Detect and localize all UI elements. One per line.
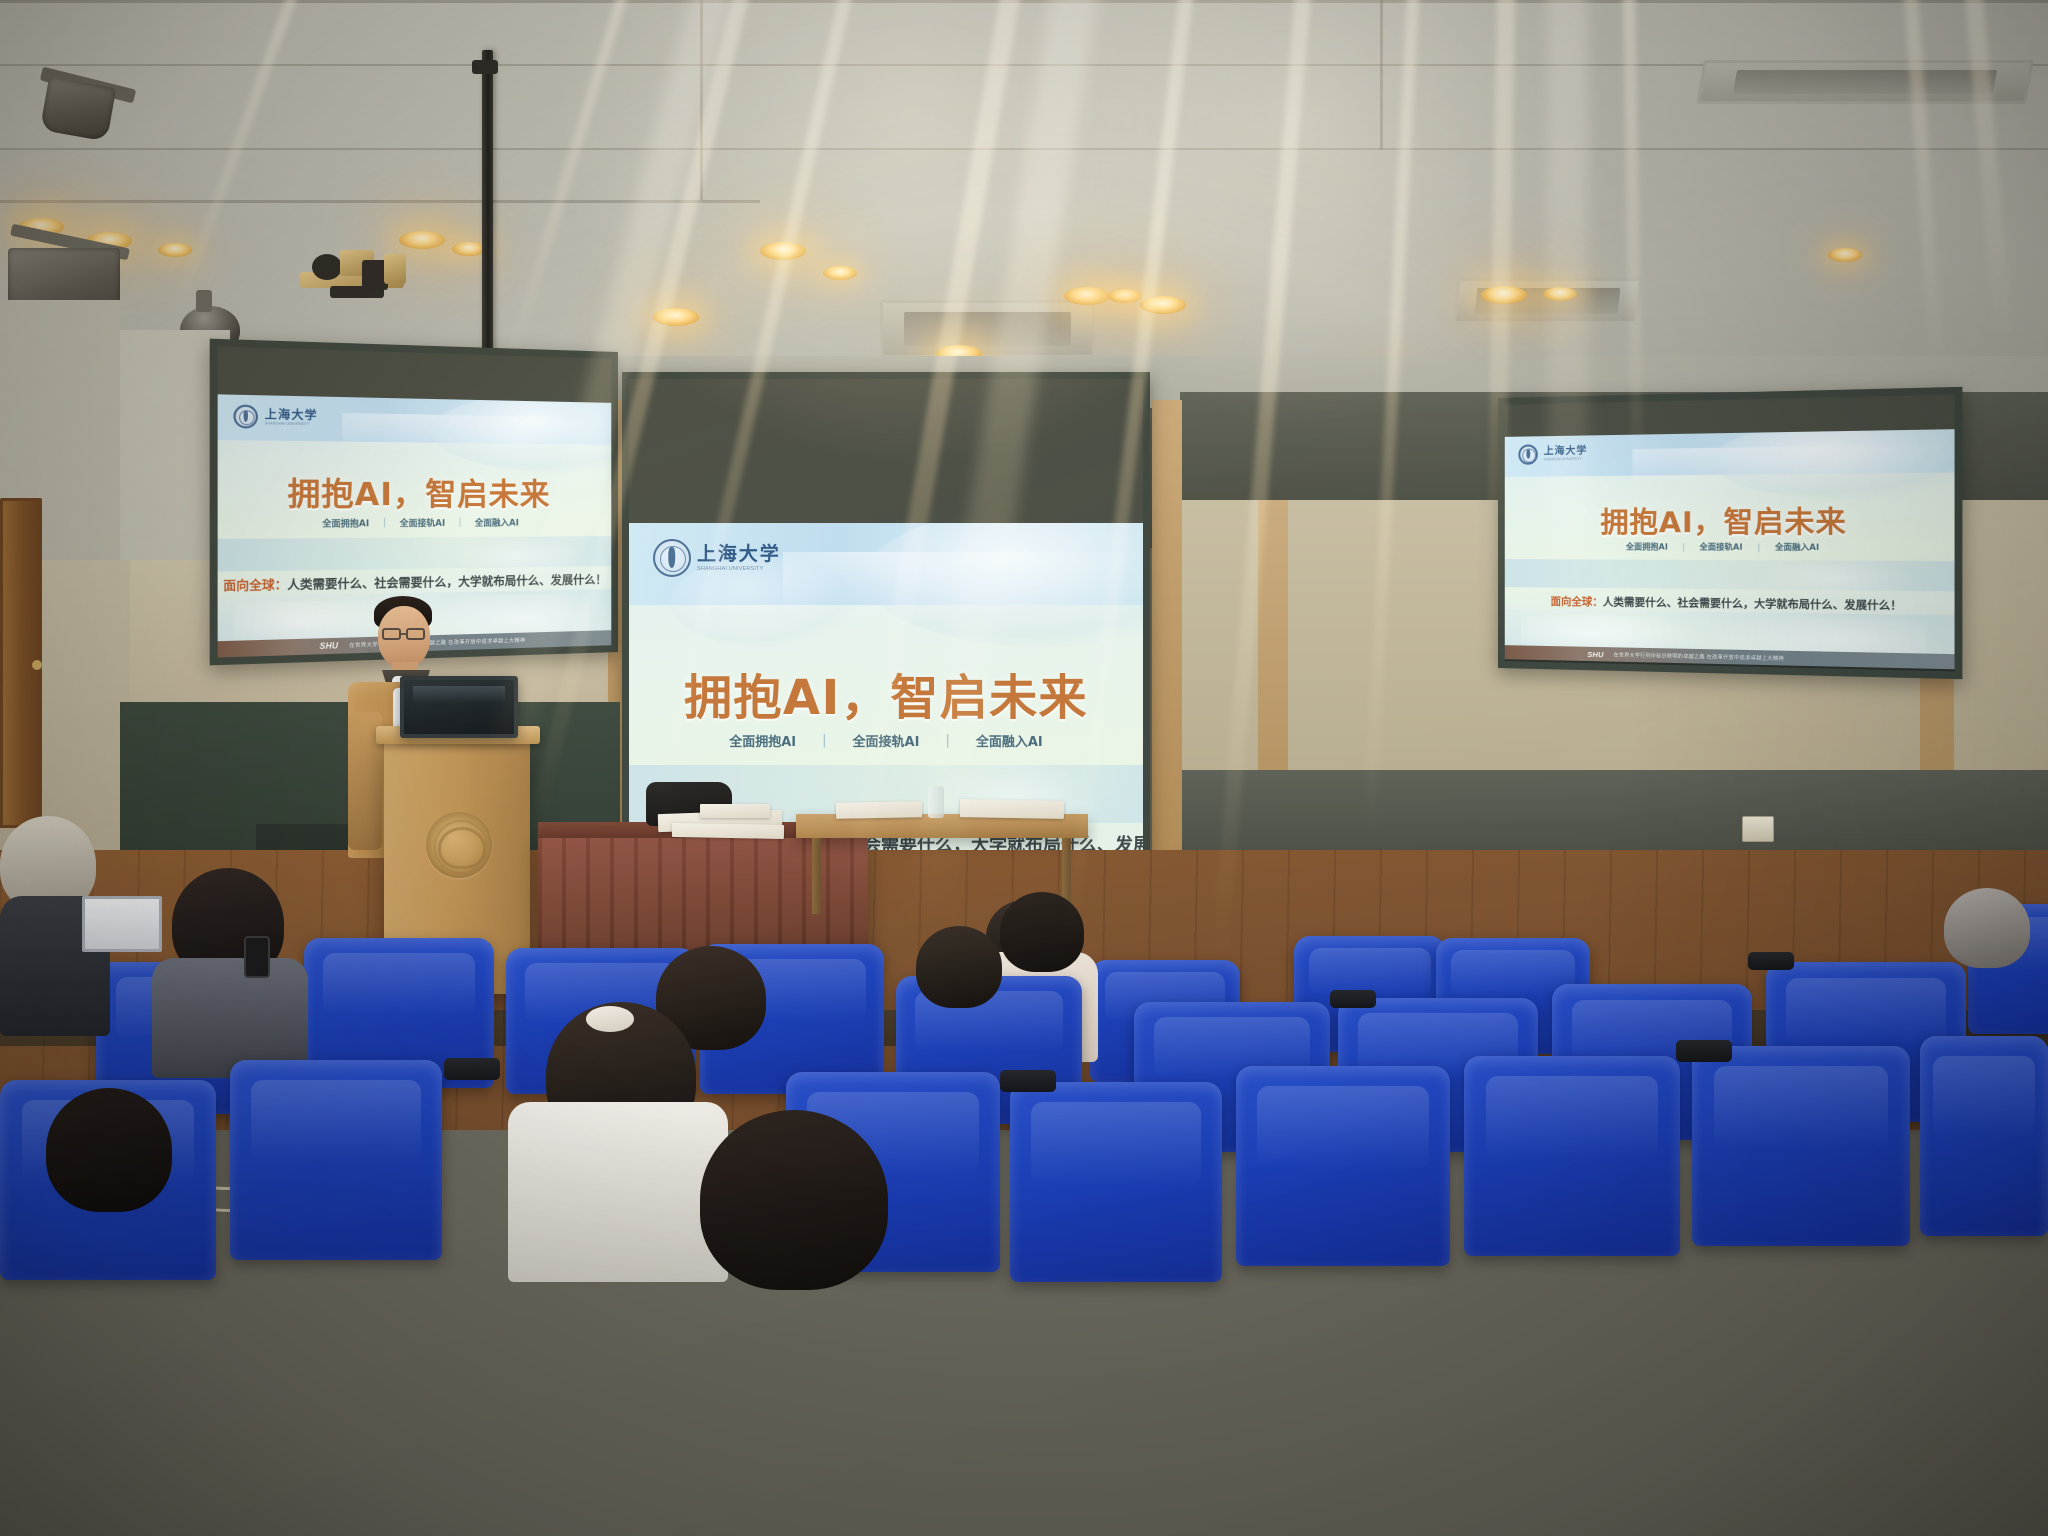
ac-vent-icon [1696,60,2034,104]
audience-head [1000,892,1084,972]
downlight-icon [823,266,857,280]
podium-laptop[interactable] [400,676,518,738]
downlight-icon [399,231,445,249]
seat[interactable] [1692,1046,1910,1246]
downlight-icon [1064,287,1110,305]
slide-highlight-label: 面向全球： [1551,596,1603,609]
ac-vent-icon [880,300,1095,358]
downlight-icon [158,243,192,257]
subtitle-item: 全面拥抱AI [729,731,796,750]
slide-body-text: 人类需要什么、社会需要什么，大学就布局什么、发展什么！ [1603,596,1902,612]
audience-head [46,1088,172,1212]
audience-head [916,926,1002,1008]
seat[interactable] [230,1060,442,1260]
subtitle-separator: | [459,518,462,528]
seat[interactable] [1920,1036,2048,1236]
slide-title: 拥抱AI，智启未来 [1505,505,1955,540]
downlight-icon [1108,289,1142,303]
slide-subtitle: 全面拥抱AI | 全面接轨AI | 全面融入AI [1505,541,1955,554]
seat[interactable] [1236,1066,1450,1266]
glasses-icon [382,628,401,640]
slide-content: 上海大学 SHANGHAI UNIVERSITY 拥抱AI，智启未来 全面拥抱A… [1505,429,1955,669]
ac-vent-icon [1453,278,1643,324]
subtitle-separator: | [383,518,386,529]
logo-text-cn: 上海大学 [1544,446,1588,458]
raised-phone-icon[interactable] [244,936,270,978]
downlight-icon [1481,286,1527,304]
hair-tie-icon [586,1006,634,1032]
subtitle-separator: | [1757,542,1760,551]
subtitle-item: 全面融入AI [976,731,1043,750]
door-knob-icon[interactable] [32,660,42,670]
subtitle-separator: | [1682,542,1685,551]
audience-head [1944,888,2030,968]
wall-column-right [1152,400,1182,870]
seat[interactable] [1464,1056,1680,1256]
footer-text: 在世界大学行列中标识鲜明的卓越之路 在改革开放中追求卓越上大精神 [1614,651,1784,662]
shu-logo: 上海大学 SHANGHAI UNIVERSITY [653,539,781,577]
shu-logo: 上海大学 SHANGHAI UNIVERSITY [1518,444,1587,465]
seat-armrest [444,1058,500,1080]
logo-text-en: SHANGHAI UNIVERSITY [1544,457,1588,463]
slide-title: 拥抱AI，智启未来 [218,477,612,514]
audience-head [700,1110,888,1290]
logo-text-cn: 上海大学 [697,544,781,565]
subtitle-item: 全面融入AI [475,516,519,529]
shu-logo: 上海大学 SHANGHAI UNIVERSITY [233,404,317,429]
logo-text-en: SHANGHAI UNIVERSITY [265,421,318,427]
mic-boom-clamp [472,60,498,74]
downlight-icon [1828,248,1862,262]
logo-text-cn: 上海大学 [265,408,318,422]
papers-on-table [672,823,784,839]
slide-highlight-label: 面向全球： [223,577,287,593]
seat[interactable] [1010,1082,1222,1282]
podium-seal-icon [426,812,492,878]
documents-on-side-table [700,804,770,818]
subtitle-separator: | [945,733,949,748]
camera-rig [300,250,412,308]
subtitle-item: 全面拥抱AI [322,517,369,530]
glasses-icon [406,628,425,640]
downlight-icon [1140,296,1186,314]
footer-shu-mark: SHU [1587,649,1603,659]
logo-text-en: SHANGHAI UNIVERSITY [697,565,781,573]
subtitle-item: 全面接轨AI [400,517,445,530]
shanghai-university-seal-icon [233,404,258,428]
right-projection-screen: 上海大学 SHANGHAI UNIVERSITY 拥抱AI，智启未来 全面拥抱A… [1498,387,1962,679]
downlight-icon [1543,287,1577,301]
water-bottle [928,786,944,818]
shanghai-university-seal-icon [1518,444,1538,464]
shanghai-university-seal-icon [653,539,691,577]
slide-subtitle: 全面拥抱AI | 全面接轨AI | 全面融入AI [218,516,612,530]
subtitle-item: 全面拥抱AI [1626,541,1668,552]
seat-armrest [1330,990,1376,1008]
side-table-leg [812,838,821,914]
downlight-icon [452,242,486,256]
audience-body [508,1102,728,1282]
subtitle-item: 全面接轨AI [853,731,920,750]
slide-subtitle: 全面拥抱AI | 全面接轨AI | 全面融入AI [629,731,1143,750]
subtitle-item: 全面融入AI [1775,541,1819,553]
glasses-bridge [401,633,406,635]
dome-camera-mount [196,290,212,312]
slide-title: 拥抱AI，智启未来 [629,671,1143,725]
documents-on-side-table [836,801,922,818]
seat-armrest [1000,1070,1056,1092]
wall-outlet-plate [1742,816,1774,842]
seat-armrest [1748,952,1794,970]
lecture-hall-photo: 上海大学 SHANGHAI UNIVERSITY 拥抱AI，智启未来 全面拥抱A… [0,0,2048,1536]
wall-lower-dark [1182,770,2048,860]
documents-on-side-table [960,799,1064,819]
subtitle-item: 全面接轨AI [1700,541,1743,553]
subtitle-separator: | [822,733,826,748]
audience-laptop[interactable] [82,896,162,952]
downlight-icon [653,308,699,326]
slide-body-text: 人类需要什么、社会需要什么，大学就布局什么、发展什么！ [287,572,606,592]
downlight-icon [760,242,806,260]
seat-armrest [1676,1040,1732,1062]
